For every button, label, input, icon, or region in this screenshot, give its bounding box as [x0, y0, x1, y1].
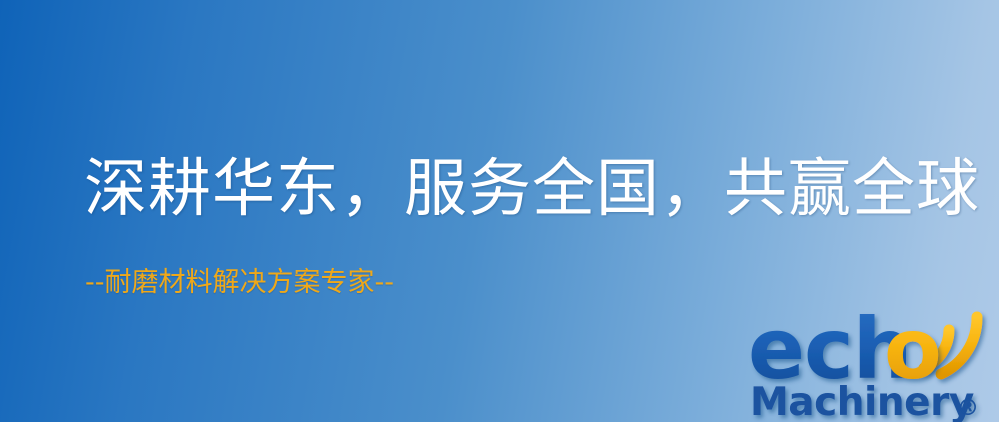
hero-banner: 深耕华东，服务全国，共赢全球 --耐磨材料解决方案专家--	[0, 0, 999, 422]
page-subtitle: --耐磨材料解决方案专家--	[85, 266, 394, 300]
logo-registered-mark: ®	[957, 396, 979, 421]
page-title: 深耕华东，服务全国，共赢全球	[84, 152, 980, 226]
brand-logo[interactable]: ech o Machinery ® echo Machinery ®	[748, 296, 994, 422]
logo-subbrand-machinery: Machinery	[750, 380, 974, 422]
brand-logo-graphic: ech o Machinery ®	[748, 296, 994, 422]
